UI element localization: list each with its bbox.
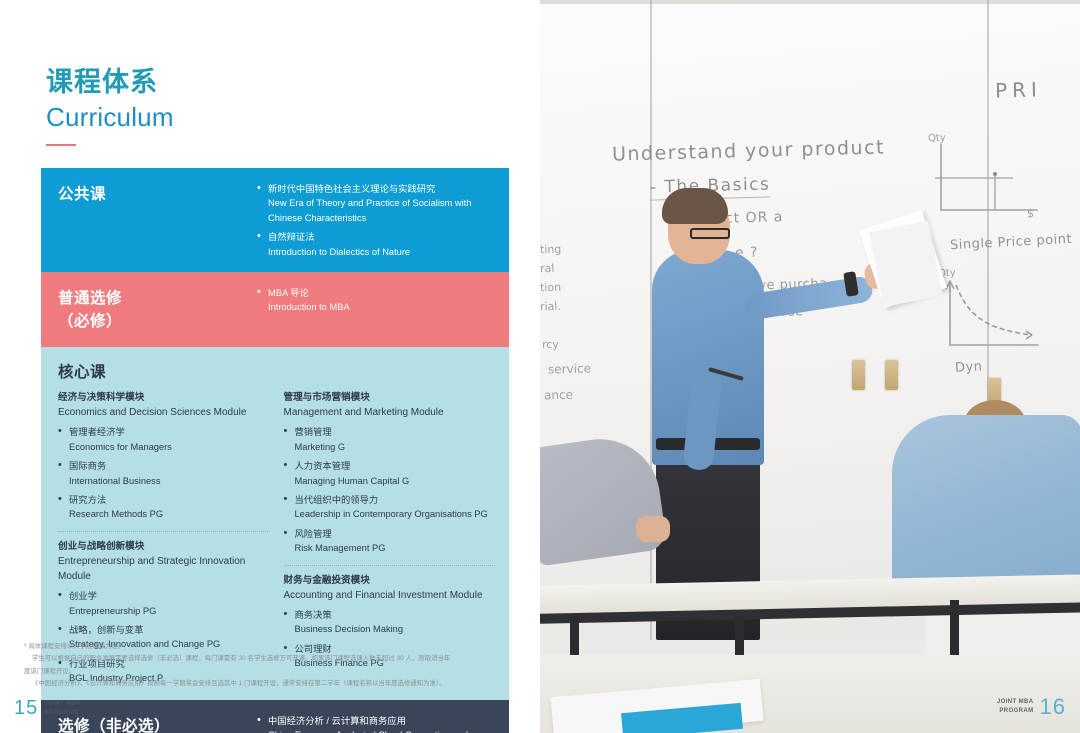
table-leg: [950, 600, 959, 656]
course-cn: 创业学: [69, 589, 270, 603]
course-en: Entrepreneurship PG: [69, 604, 270, 618]
course-cn: 当代组织中的领导力: [295, 493, 496, 507]
module-economics-decision-sciences: 经济与决策科学模块 Economics and Decision Science…: [58, 391, 270, 522]
block-general-elective-label: 普通选修 （必修）: [41, 272, 257, 347]
public-course-list: 新时代中国特色社会主义理论与实践研究 New Era of Theory and…: [257, 182, 497, 259]
block-optional-courses: 选修（非必选） 中国经济分析 / 云计算和商务应用 China Economy …: [41, 700, 509, 733]
list-item: 国际商务 International Business: [58, 459, 270, 488]
page-number-left: 15: [14, 697, 38, 720]
block-public-body: 新时代中国特色社会主义理论与实践研究 New Era of Theory and…: [257, 168, 509, 272]
block-general-elective-body: MBA 导论 Introduction to MBA: [257, 272, 509, 347]
whiteboard-left-fragment: rial.: [540, 300, 561, 314]
label-line-2: （必修）: [58, 311, 257, 333]
list-item: 新时代中国特色社会主义理论与实践研究 New Era of Theory and…: [257, 182, 497, 225]
presenter-hair: [662, 188, 728, 224]
module-title-en: Management and Marketing Module: [284, 405, 496, 420]
block-public-courses: 公共课 新时代中国特色社会主义理论与实践研究 New Era of Theory…: [41, 168, 509, 272]
module-title-en: Accounting and Financial Investment Modu…: [284, 588, 496, 603]
brand-line-2: PROGRAM: [997, 707, 1034, 716]
course-cn: 战略，创新与变革: [69, 623, 270, 637]
list-item: 商务决策 Business Decision Making: [284, 608, 496, 637]
course-en: Economics for Managers: [69, 440, 270, 454]
list-item: MBA 导论 Introduction to MBA: [257, 286, 497, 315]
block-optional-body: 中国经济分析 / 云计算和商务应用 China Economy Analysis…: [257, 700, 509, 733]
course-en: Business Decision Making: [295, 622, 496, 636]
brand-line-2: PROGRAM: [44, 709, 81, 718]
course-cn: 自然辩证法: [268, 230, 497, 244]
module-title-cn: 创业与战略创新模块: [58, 540, 270, 554]
whiteboard-left-fragment: service: [548, 361, 591, 376]
list-item: 创业学 Entrepreneurship PG: [58, 589, 270, 618]
course-cn: 人力资本管理: [295, 459, 496, 473]
whiteboard-pri-text: PRI: [995, 77, 1042, 102]
footnote-line-3: 《中国经济分析》、《云计算和商务应用》按照每一学期将会安排且选其中 1 门课程开…: [24, 678, 454, 691]
general-elective-course-list: MBA 导论 Introduction to MBA: [257, 286, 497, 315]
list-item: 风险管理 Risk Management PG: [284, 527, 496, 556]
module-divider: [58, 531, 270, 532]
optional-course-list: 中国经济分析 / 云计算和商务应用 China Economy Analysis…: [257, 714, 497, 733]
title-underline-rule: [46, 144, 76, 146]
footnote-line-1: * 具体课程安排以入学后课表为准。: [24, 641, 454, 653]
list-item: 中国经济分析 / 云计算和商务应用 China Economy Analysis…: [257, 714, 497, 733]
module-course-list: 营销管理 Marketing G 人力资本管理 Managing Human C…: [284, 425, 496, 555]
course-cn: MBA 导论: [268, 286, 497, 300]
course-en: Marketing G: [295, 440, 496, 454]
block-core-label: 核心课: [58, 360, 495, 382]
course-cn: 国际商务: [69, 459, 270, 473]
list-item: 当代组织中的领导力 Leadership in Contemporary Org…: [284, 493, 496, 522]
footnote-line-2: 学生可以根据自己的职业发展需要选择选修（非必选）课程，每门课需有 30 名学生选…: [24, 653, 454, 678]
module-title-en: Entrepreneurship and Strategic Innovatio…: [58, 554, 270, 584]
course-en: New Era of Theory and Practice of Social…: [268, 196, 497, 225]
course-en: Risk Management PG: [295, 541, 496, 555]
module-course-list: 管理者经济学 Economics for Managers 国际商务 Inter…: [58, 425, 270, 521]
whiteboard-left-fragment: ance: [544, 388, 573, 403]
cabinet-handle-icon: [852, 360, 865, 390]
right-page-footer: JOINT MBA PROGRAM 16: [997, 694, 1066, 720]
list-item: 人力资本管理 Managing Human Capital G: [284, 459, 496, 488]
brand-line-1: JOINT MBA: [997, 698, 1034, 707]
list-item: 管理者经济学 Economics for Managers: [58, 425, 270, 454]
course-cn: 风险管理: [295, 527, 496, 541]
classroom-photo: Understand your product - The Basics ct …: [540, 0, 1080, 733]
brand-line-1: JOINT MBA: [44, 700, 81, 709]
page-title: 课程体系 Curriculum: [46, 66, 174, 146]
whiteboard-left-fragment: ting: [540, 243, 561, 257]
whiteboard-graph-dynamic-curve: [940, 275, 1045, 353]
module-title-cn: 财务与金融投资模块: [284, 574, 496, 588]
course-cn: 商务决策: [295, 608, 496, 622]
course-cn: 研究方法: [69, 493, 270, 507]
block-public-label: 公共课: [41, 168, 257, 272]
module-title-cn: 经济与决策科学模块: [58, 391, 270, 405]
footnote: * 具体课程安排以入学后课表为准。 学生可以根据自己的职业发展需要选择选修（非必…: [24, 641, 454, 691]
module-title-cn: 管理与市场营销模块: [284, 391, 496, 405]
course-en: Research Methods PG: [69, 507, 270, 521]
whiteboard-left-fragment: ral: [540, 262, 554, 275]
course-en: China Economy Analysis / Cloud Computing…: [268, 728, 497, 733]
block-general-elective: 普通选修 （必修） MBA 导论 Introduction to MBA: [41, 272, 509, 347]
course-cn: 营销管理: [295, 425, 496, 439]
student-left-hand: [636, 516, 670, 542]
page-number-right: 16: [1040, 694, 1066, 720]
whiteboard-graph1-x-label: $: [1027, 207, 1034, 220]
module-title-en: Economics and Decision Sciences Module: [58, 405, 270, 420]
course-en: Introduction to Dialectics of Nature: [268, 245, 497, 259]
whiteboard-left-fragment: rcy: [542, 338, 559, 351]
course-en: Managing Human Capital G: [295, 474, 496, 488]
course-en: Introduction to MBA: [268, 300, 497, 314]
course-cn: 管理者经济学: [69, 425, 270, 439]
course-en: International Business: [69, 474, 270, 488]
module-divider: [284, 565, 496, 566]
course-en: Leadership in Contemporary Organisations…: [295, 507, 496, 521]
module-management-marketing: 管理与市场营销模块 Management and Marketing Modul…: [284, 391, 496, 556]
left-page-footer: 15 JOINT MBA PROGRAM: [14, 697, 81, 720]
whiteboard-graph1-y-label: Qty: [928, 133, 946, 144]
list-item: 自然辩证法 Introduction to Dialectics of Natu…: [257, 230, 497, 259]
brand-mark-right: JOINT MBA PROGRAM: [997, 698, 1034, 715]
course-cn: 中国经济分析 / 云计算和商务应用: [268, 714, 497, 728]
right-page: Understand your product - The Basics ct …: [540, 0, 1080, 733]
brand-mark-left: JOINT MBA PROGRAM: [44, 700, 81, 717]
brochure-spread: 课程体系 Curriculum 公共课 新时代中国特色社会主义理论与实践研究 N…: [0, 0, 1080, 733]
page-title-cn: 课程体系: [46, 66, 174, 100]
cabinet-handle-icon: [885, 360, 898, 390]
list-item: 营销管理 Marketing G: [284, 425, 496, 454]
whiteboard-left-fragment: tion: [540, 281, 561, 295]
page-title-en: Curriculum: [46, 101, 174, 135]
whiteboard-graph2-caption: Dyn: [955, 359, 983, 375]
wall-top-edge: [540, 0, 1080, 4]
label-line-1: 普通选修: [58, 288, 257, 310]
presenter-glasses-icon: [690, 228, 730, 239]
left-page: 课程体系 Curriculum 公共课 新时代中国特色社会主义理论与实践研究 N…: [0, 0, 540, 733]
whiteboard-line-a: ct OR a: [725, 209, 784, 227]
course-cn: 新时代中国特色社会主义理论与实践研究: [268, 182, 497, 196]
list-item: 研究方法 Research Methods PG: [58, 493, 270, 522]
